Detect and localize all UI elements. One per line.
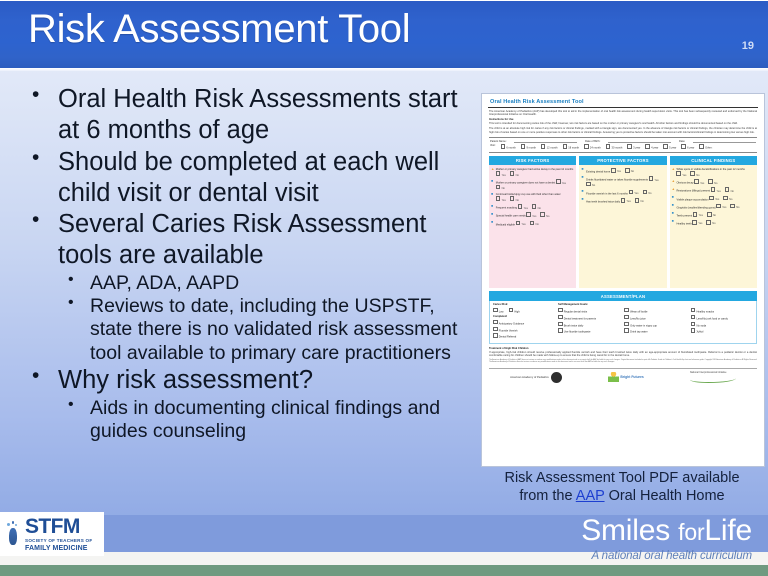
- factor-label: Continual bottle/sippy cup use with flui…: [496, 193, 561, 196]
- no-checkbox[interactable]: No: [706, 222, 715, 225]
- triangle-warning-icon: ▲: [491, 168, 494, 177]
- sfl-subtitle: A national oral health curriculum: [581, 550, 752, 562]
- yes-checkbox[interactable]: Yes: [709, 198, 719, 201]
- caries-risk-low-checkbox[interactable]: Low: [493, 308, 504, 314]
- caries-risk-section: Caries Risk: Low High Completed: Anticip…: [493, 303, 553, 340]
- square-bullet-icon: ■: [491, 193, 494, 202]
- document-caption: Risk Assessment Tool PDF available from …: [481, 470, 763, 505]
- yes-no-pair: YesNo: [516, 223, 543, 226]
- yes-no-pair: YesNo: [621, 200, 648, 203]
- factor-item: ■ Has teeth brushed twice daily YesNo: [581, 198, 664, 204]
- square-bullet-icon: ■: [581, 168, 584, 174]
- slide: Risk Assessment Tool 19 Oral Health Risk…: [0, 0, 768, 576]
- factor-label: Frequent snacking: [496, 207, 517, 210]
- square-bullet-icon: ■: [491, 212, 494, 218]
- column-header-risk-factors: RISK FACTORS: [489, 156, 576, 166]
- no-checkbox[interactable]: No: [510, 174, 519, 177]
- document-fineprint: The American Academy of Pediatrics (AAP)…: [489, 359, 757, 363]
- aap-link[interactable]: AAP: [576, 488, 605, 504]
- column-body-clinical-findings: ▲ White spots or visible decalcification…: [670, 165, 757, 288]
- smiles-for-life-logo: Smiles forLife A national oral health cu…: [581, 516, 752, 562]
- age-checkbox[interactable]: 6 year: [681, 144, 694, 150]
- factor-item: ■ Medicaid eligible YesNo: [491, 221, 574, 227]
- assessment-plan-header: ASSESSMENT/PLAN: [489, 291, 757, 301]
- yes-checkbox[interactable]: Yes: [496, 174, 506, 177]
- yes-no-pair: YesNo: [518, 207, 545, 210]
- age-checkbox[interactable]: 9 month: [521, 144, 536, 150]
- bullet-item: Why risk assessment?: [18, 365, 470, 396]
- bullet-item: Several Caries Risk Assessment tools are…: [18, 209, 470, 271]
- factor-item: ■ Fluoride varnish in the last 6 months …: [581, 190, 664, 196]
- yes-checkbox[interactable]: Yes: [711, 190, 721, 193]
- triangle-warning-icon: ▲: [672, 187, 675, 193]
- goal-checkbox[interactable]: Less/No juice: [624, 315, 686, 321]
- completed-checkbox[interactable]: Anticipatory Guidance: [493, 320, 553, 326]
- treatment-body: If appropriate, high-risk children shoul…: [489, 351, 757, 357]
- goals-column: Healthy snacks Less/No junk food or cand…: [691, 308, 753, 335]
- square-bullet-icon: ■: [672, 204, 675, 210]
- triangle-warning-icon: ▲: [672, 179, 675, 185]
- yes-no-pair: YesNo: [693, 214, 720, 217]
- yes-no-pair: YesNo: [629, 192, 656, 195]
- aap-logo-text: American Academy of Pediatrics: [510, 376, 549, 379]
- no-checkbox[interactable]: No: [643, 192, 652, 195]
- caption-line-2-prefix: from the: [519, 488, 575, 504]
- factor-label: Special health care needs: [496, 215, 526, 218]
- yes-checkbox[interactable]: Yes: [556, 182, 566, 185]
- factor-item: ■ Drinks fluoridated water or takes fluo…: [581, 176, 664, 187]
- page-title: Risk Assessment Tool: [28, 7, 410, 52]
- date-of-birth-label: Date of Birth:: [585, 140, 600, 143]
- caption-line-2-suffix: Oral Health Home: [605, 488, 725, 504]
- no-checkbox[interactable]: No: [707, 214, 716, 217]
- yes-checkbox[interactable]: Yes: [692, 222, 702, 225]
- factor-item: ■ Teeth present YesNo: [672, 212, 755, 218]
- no-checkbox[interactable]: No: [635, 200, 644, 203]
- goal-checkbox[interactable]: Brush twice daily: [558, 322, 620, 328]
- square-bullet-icon: ■: [672, 212, 675, 218]
- yes-checkbox[interactable]: Yes: [496, 199, 506, 202]
- goal-checkbox[interactable]: Xylitol: [691, 328, 753, 334]
- stfm-logo: STFM SOCIETY OF TEACHERS OF FAMILY MEDIC…: [0, 512, 104, 556]
- no-checkbox[interactable]: No: [532, 207, 541, 210]
- bullet-subitem: Reviews to date, including the USPSTF, s…: [18, 295, 470, 365]
- completed-label: Completed:: [493, 315, 553, 318]
- bright-futures-logo: Bright Futures: [608, 372, 644, 382]
- no-checkbox[interactable]: No: [540, 215, 549, 218]
- factor-item: ■ Existing dental home YesNo: [581, 168, 664, 174]
- yes-no-pair: YesNo: [711, 190, 738, 193]
- yes-checkbox[interactable]: Yes: [649, 179, 659, 182]
- instructions-paragraph-1: This tool is intended for documenting ca…: [489, 122, 757, 125]
- sfl-word-smiles: Smiles: [581, 514, 670, 547]
- aap-logo: American Academy of Pediatrics: [510, 372, 562, 383]
- treatment-heading: Treatment of High Risk Children: [489, 347, 757, 350]
- age-checkbox[interactable]: 4 year: [645, 144, 658, 150]
- goal-checkbox[interactable]: Wean off bottle: [624, 308, 686, 314]
- header-divider: [0, 68, 768, 71]
- patient-field-row: Patient Name: Date of Birth: Date:: [490, 140, 756, 143]
- nii-swoosh-icon: [690, 375, 736, 383]
- factor-item: ■ Continual bottle/sippy cup use with fl…: [491, 193, 574, 202]
- treatment-section: Treatment of High Risk Children If appro…: [489, 347, 757, 357]
- no-checkbox[interactable]: No: [625, 170, 634, 173]
- column-risk-factors: RISK FACTORS ▲ Mother or primary caregiv…: [489, 156, 576, 289]
- bullet-item: Should be completed at each well child v…: [18, 147, 470, 209]
- instructions-paragraph-2: The child is at an absolute high risk fo…: [489, 127, 757, 133]
- stfm-tagline-2: FAMILY MEDICINE: [25, 545, 92, 552]
- date-field[interactable]: [693, 140, 756, 143]
- yes-checkbox[interactable]: Yes: [516, 223, 526, 226]
- bullet-subitem: Aids in documenting clinical findings an…: [18, 397, 470, 443]
- patient-name-label: Patient Name:: [490, 140, 506, 143]
- factor-label: Mother or primary caregiver does not hav…: [496, 182, 555, 185]
- self-management-goals-section: Self Management Goals: Regular dental vi…: [558, 303, 753, 340]
- factor-label: White spots or visible decalcifications …: [676, 168, 744, 171]
- no-checkbox[interactable]: No: [510, 199, 519, 202]
- factor-item: ■ Healthy teeth YesNo: [672, 220, 755, 226]
- yes-checkbox[interactable]: Yes: [694, 182, 704, 185]
- patient-info-band: Patient Name: Date of Birth: Date: Visit…: [489, 137, 757, 153]
- goal-checkbox[interactable]: Only water in sippy cup: [624, 322, 686, 328]
- factor-label: Medicaid eligible: [496, 223, 515, 226]
- no-checkbox[interactable]: No: [586, 184, 595, 187]
- no-checkbox[interactable]: No: [496, 187, 505, 190]
- yes-no-pair: YesNo: [709, 198, 736, 201]
- caries-risk-high-checkbox[interactable]: High: [509, 308, 520, 314]
- visit-age-checkboxes: Visit: 6 month 9 month 12 month 18 month…: [490, 144, 756, 150]
- factor-item: ▲ Restorations (fillings) present YesNo: [672, 187, 755, 193]
- footer-green-band: [0, 565, 768, 576]
- factor-label: Gingivitis (swollen/bleeding gums): [676, 206, 715, 209]
- yes-no-pair: YesNo: [496, 174, 523, 177]
- factor-item: ■ Special health care needs YesNo: [491, 212, 574, 218]
- factor-label: Existing dental home: [586, 170, 610, 173]
- goals-columns: Regular dental visits Dental treatment f…: [558, 308, 753, 335]
- stfm-tagline-1: SOCIETY OF TEACHERS OF: [25, 539, 92, 544]
- yes-checkbox[interactable]: Yes: [526, 215, 536, 218]
- no-checkbox[interactable]: No: [708, 182, 717, 185]
- column-protective-factors: PROTECTIVE FACTORS ■ Existing dental hom…: [579, 156, 666, 289]
- goal-checkbox[interactable]: Drink tap water: [624, 328, 686, 334]
- caries-risk-label: Caries Risk:: [493, 303, 553, 306]
- completed-checkbox[interactable]: Dental Referral: [493, 333, 553, 339]
- factor-item: ▲ Mother or primary caregiver had active…: [491, 168, 574, 177]
- yes-no-pair: YesNo: [611, 170, 638, 173]
- assessment-plan-body: Caries Risk: Low High Completed: Anticip…: [489, 301, 757, 344]
- goal-checkbox[interactable]: Healthy snacks: [691, 308, 753, 314]
- column-body-protective-factors: ■ Existing dental home YesNo ■: [579, 165, 666, 288]
- age-checkbox[interactable]: 30 month: [606, 144, 623, 150]
- age-checkbox-other[interactable]: Other:: [699, 144, 712, 150]
- goals-column: Wean off bottle Less/No juice Only water…: [624, 308, 686, 335]
- yes-checkbox[interactable]: Yes: [693, 214, 703, 217]
- triangle-warning-icon: ▲: [672, 168, 675, 177]
- age-checkbox[interactable]: 18 month: [563, 144, 580, 150]
- column-body-risk-factors: ▲ Mother or primary caregiver had active…: [489, 165, 576, 288]
- yes-no-pair: YesNo: [526, 215, 553, 218]
- square-bullet-icon: ■: [581, 198, 584, 204]
- visit-label: Visit:: [490, 144, 496, 150]
- bullet-list: Oral Health Risk Assessments start at 6 …: [18, 84, 470, 443]
- factor-item: ▲ Obvious decay YesNo: [672, 179, 755, 185]
- no-checkbox[interactable]: No: [725, 190, 734, 193]
- age-checkbox[interactable]: 24 month: [584, 144, 601, 150]
- yes-no-pair: YesNo: [694, 182, 721, 185]
- square-bullet-icon: ■: [491, 204, 494, 210]
- goal-checkbox[interactable]: No soda: [691, 322, 753, 328]
- square-bullet-icon: ■: [581, 176, 584, 187]
- factor-item: ■ Mother or primary caregiver does not h…: [491, 179, 574, 190]
- goal-checkbox[interactable]: Regular dental visits: [558, 308, 620, 314]
- stfm-acronym: STFM: [25, 516, 92, 537]
- goal-checkbox[interactable]: Dental treatment for parents: [558, 315, 620, 321]
- factor-label: Restorations (fillings) present: [676, 190, 710, 193]
- slide-number: 19: [742, 40, 754, 52]
- factor-label: Healthy teeth: [676, 222, 691, 225]
- goals-column: Regular dental visits Dental treatment f…: [558, 308, 620, 335]
- age-checkbox[interactable]: 3 year: [627, 144, 640, 150]
- no-checkbox[interactable]: No: [690, 174, 699, 177]
- factor-label: Drinks fluoridated water or takes fluori…: [586, 179, 648, 182]
- goal-checkbox[interactable]: Use fluoride toothpaste: [558, 328, 620, 334]
- factor-label: Teeth present: [676, 214, 692, 217]
- yes-checkbox[interactable]: Yes: [518, 207, 528, 210]
- factor-columns: RISK FACTORS ▲ Mother or primary caregiv…: [489, 156, 757, 289]
- yes-checkbox[interactable]: Yes: [716, 206, 726, 209]
- factor-item: ■ Frequent snacking YesNo: [491, 204, 574, 210]
- square-bullet-icon: ■: [491, 179, 494, 190]
- date-label: Date:: [679, 140, 685, 143]
- column-header-clinical-findings: CLINICAL FINDINGS: [670, 156, 757, 166]
- yes-no-pair: YesNo: [676, 174, 703, 177]
- yes-checkbox[interactable]: Yes: [621, 200, 631, 203]
- document-logos: American Academy of Pediatrics Bright Fu…: [489, 368, 757, 384]
- factor-item: ■ Visible plaque accumulation YesNo: [672, 196, 755, 202]
- risk-assessment-tool-image[interactable]: Oral Health Risk Assessment Tool The Ame…: [481, 93, 765, 467]
- age-checkbox[interactable]: 12 month: [541, 144, 558, 150]
- instructions-heading: Instructions for Use: [489, 118, 757, 121]
- goal-checkbox[interactable]: Less/No junk food or candy: [691, 315, 753, 321]
- caption-line-1: Risk Assessment Tool PDF available: [504, 470, 739, 486]
- stfm-figure-icon: [6, 521, 22, 547]
- goals-label: Self Management Goals:: [558, 303, 753, 306]
- bullet-subitem: AAP, ADA, AAPD: [18, 272, 470, 295]
- completed-checkbox[interactable]: Fluoride Varnish: [493, 327, 553, 333]
- bullet-item: Oral Health Risk Assessments start at 6 …: [18, 84, 470, 146]
- nii-logo-text: National Interprofessional Initiative: [690, 372, 736, 375]
- age-checkbox[interactable]: 6 month: [501, 144, 516, 150]
- column-header-protective-factors: PROTECTIVE FACTORS: [579, 156, 666, 166]
- factor-item: ■ Gingivitis (swollen/bleeding gums) Yes…: [672, 204, 755, 210]
- document-intro: The American Academy of Pediatrics (AAP)…: [489, 110, 757, 116]
- factor-label: Fluoride varnish in the last 6 months: [586, 192, 628, 195]
- factor-label: Mother or primary caregiver had active d…: [496, 168, 574, 171]
- nii-oral-health-logo: National Interprofessional Initiative: [690, 372, 736, 384]
- bright-futures-logo-text: Bright Futures: [620, 376, 643, 379]
- yes-checkbox[interactable]: Yes: [611, 170, 621, 173]
- yes-no-pair: YesNo: [692, 222, 719, 225]
- yes-no-pair: YesNo: [716, 206, 743, 209]
- patient-name-field[interactable]: [514, 140, 577, 143]
- factor-label: Has teeth brushed twice daily: [586, 200, 620, 203]
- document-title: Oral Health Risk Assessment Tool: [488, 97, 758, 108]
- square-bullet-icon: ■: [581, 190, 584, 196]
- square-bullet-icon: ■: [491, 221, 494, 227]
- no-checkbox[interactable]: No: [730, 206, 739, 209]
- column-clinical-findings: CLINICAL FINDINGS ▲ White spots or visib…: [670, 156, 757, 289]
- factor-label: Obvious decay: [676, 182, 693, 185]
- bright-futures-children-icon: [608, 372, 619, 382]
- date-of-birth-field[interactable]: [608, 140, 671, 143]
- factor-item: ▲ White spots or visible decalcification…: [672, 168, 755, 177]
- yes-no-pair: YesNo: [496, 199, 523, 202]
- slide-header: Risk Assessment Tool 19: [0, 0, 768, 68]
- sfl-word-life: Life: [704, 514, 752, 547]
- completed-options: Anticipatory Guidance Fluoride Varnish D…: [493, 320, 553, 339]
- sfl-word-for: for: [678, 519, 704, 545]
- square-bullet-icon: ■: [672, 196, 675, 202]
- aap-seal-icon: [551, 372, 562, 383]
- square-bullet-icon: ■: [672, 220, 675, 226]
- factor-label: Visible plaque accumulation: [676, 198, 708, 201]
- age-checkbox[interactable]: 5 year: [663, 144, 676, 150]
- caries-risk-options: Low High: [493, 308, 553, 314]
- document-page: Oral Health Risk Assessment Tool The Ame…: [486, 97, 760, 463]
- no-checkbox[interactable]: No: [723, 198, 732, 201]
- yes-checkbox[interactable]: Yes: [676, 174, 686, 177]
- yes-checkbox[interactable]: Yes: [629, 192, 639, 195]
- no-checkbox[interactable]: No: [530, 223, 539, 226]
